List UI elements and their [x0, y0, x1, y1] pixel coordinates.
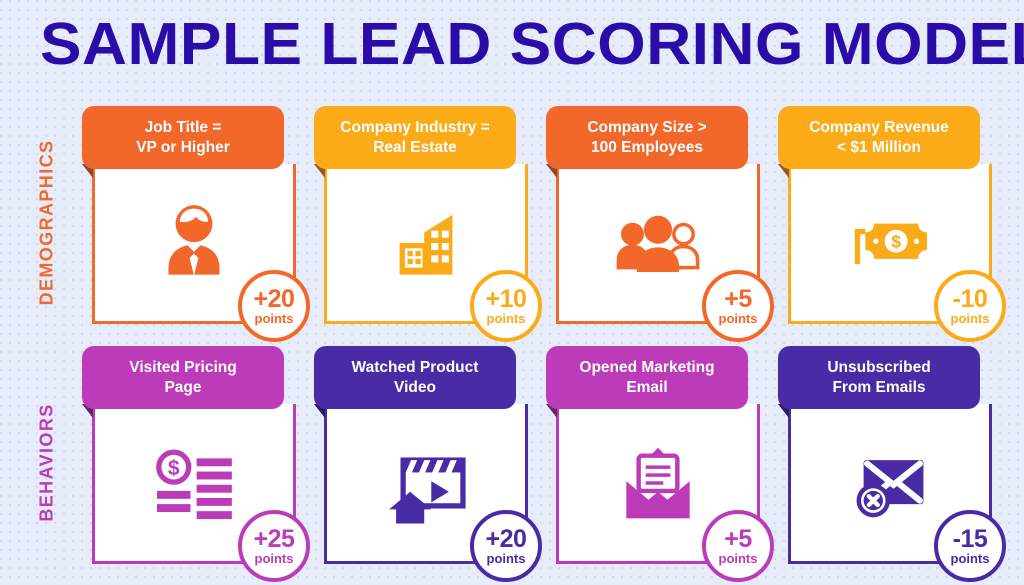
card-header: Opened Marketing Email [546, 346, 748, 409]
score-value: -10 [953, 287, 988, 311]
scoring-card[interactable]: Visited Pricing Page $ +25 points [88, 346, 296, 564]
scoring-card[interactable]: Company Revenue < $1 Million $ -10 point… [784, 106, 992, 324]
section-label-demographics: DEMOGRAPHICS [37, 108, 58, 338]
score-unit: points [255, 552, 294, 566]
score-value: +5 [724, 527, 752, 551]
executive-person-icon [146, 199, 242, 287]
dollar-banknote-icon: $ [842, 199, 938, 287]
card-title-line2: Email [626, 379, 667, 396]
svg-text:$: $ [168, 457, 180, 480]
scoring-card[interactable]: Opened Marketing Email +5 points [552, 346, 760, 564]
score-badge: +25 points [238, 510, 310, 582]
card-title-line1: Opened Marketing [579, 359, 714, 376]
people-group-icon [610, 199, 706, 287]
score-badge: +20 points [470, 510, 542, 582]
score-value: -15 [953, 527, 988, 551]
score-unit: points [255, 312, 294, 326]
card-title-line2: VP or Higher [136, 139, 230, 156]
scoring-card[interactable]: Watched Product Video +20 points [320, 346, 528, 564]
score-unit: points [719, 312, 758, 326]
page-title: SAMPLE LEAD SCORING MODEL [40, 11, 1024, 77]
score-badge: +5 points [702, 510, 774, 582]
scoring-card[interactable]: Company Size > 100 Employees +5 points [552, 106, 760, 324]
svg-text:$: $ [891, 231, 901, 251]
card-title-line1: Watched Product [352, 359, 479, 376]
card-title-line1: Company Revenue [809, 119, 949, 136]
card-title-line2: From Emails [832, 379, 925, 396]
score-value: +20 [254, 287, 295, 311]
score-value: +25 [254, 527, 295, 551]
card-title-line1: Visited Pricing [129, 359, 236, 376]
video-clapperboard-house-icon [378, 439, 474, 527]
section-label-behaviors: BEHAVIORS [37, 348, 58, 578]
score-badge: +5 points [702, 270, 774, 342]
score-badge: -15 points [934, 510, 1006, 582]
score-unit: points [719, 552, 758, 566]
card-title-line2: Video [394, 379, 436, 396]
score-unit: points [487, 552, 526, 566]
score-value: +10 [486, 287, 527, 311]
scoring-card[interactable]: Job Title = VP or Higher +20 points [88, 106, 296, 324]
score-badge: +20 points [238, 270, 310, 342]
open-envelope-letter-icon [610, 439, 706, 527]
envelope-cancel-icon [842, 439, 938, 527]
card-title-line2: < $1 Million [837, 139, 921, 156]
card-header: Company Industry = Real Estate [314, 106, 516, 169]
pricing-list-icon: $ [146, 439, 242, 527]
card-title-line2: 100 Employees [591, 139, 703, 156]
card-header: Company Revenue < $1 Million [778, 106, 980, 169]
scoring-card-grid: Job Title = VP or Higher +20 points Comp… [88, 106, 994, 576]
scoring-card[interactable]: Company Industry = Real Estate [320, 106, 528, 324]
card-header: Company Size > 100 Employees [546, 106, 748, 169]
card-title-line1: Company Size > [587, 119, 706, 136]
card-title-line2: Real Estate [373, 139, 457, 156]
scoring-card[interactable]: Unsubscribed From Emails -15 points [784, 346, 992, 564]
card-title-line1: Unsubscribed [827, 359, 930, 376]
score-badge: +10 points [470, 270, 542, 342]
score-value: +5 [724, 287, 752, 311]
score-unit: points [951, 312, 990, 326]
score-unit: points [487, 312, 526, 326]
score-value: +20 [486, 527, 527, 551]
score-badge: -10 points [934, 270, 1006, 342]
card-header: Watched Product Video [314, 346, 516, 409]
card-header: Job Title = VP or Higher [82, 106, 284, 169]
score-unit: points [951, 552, 990, 566]
card-title-line1: Job Title = [145, 119, 222, 136]
card-header: Unsubscribed From Emails [778, 346, 980, 409]
card-title-line1: Company Industry = [340, 119, 489, 136]
card-header: Visited Pricing Page [82, 346, 284, 409]
office-buildings-icon [378, 199, 474, 287]
card-title-line2: Page [164, 379, 201, 396]
